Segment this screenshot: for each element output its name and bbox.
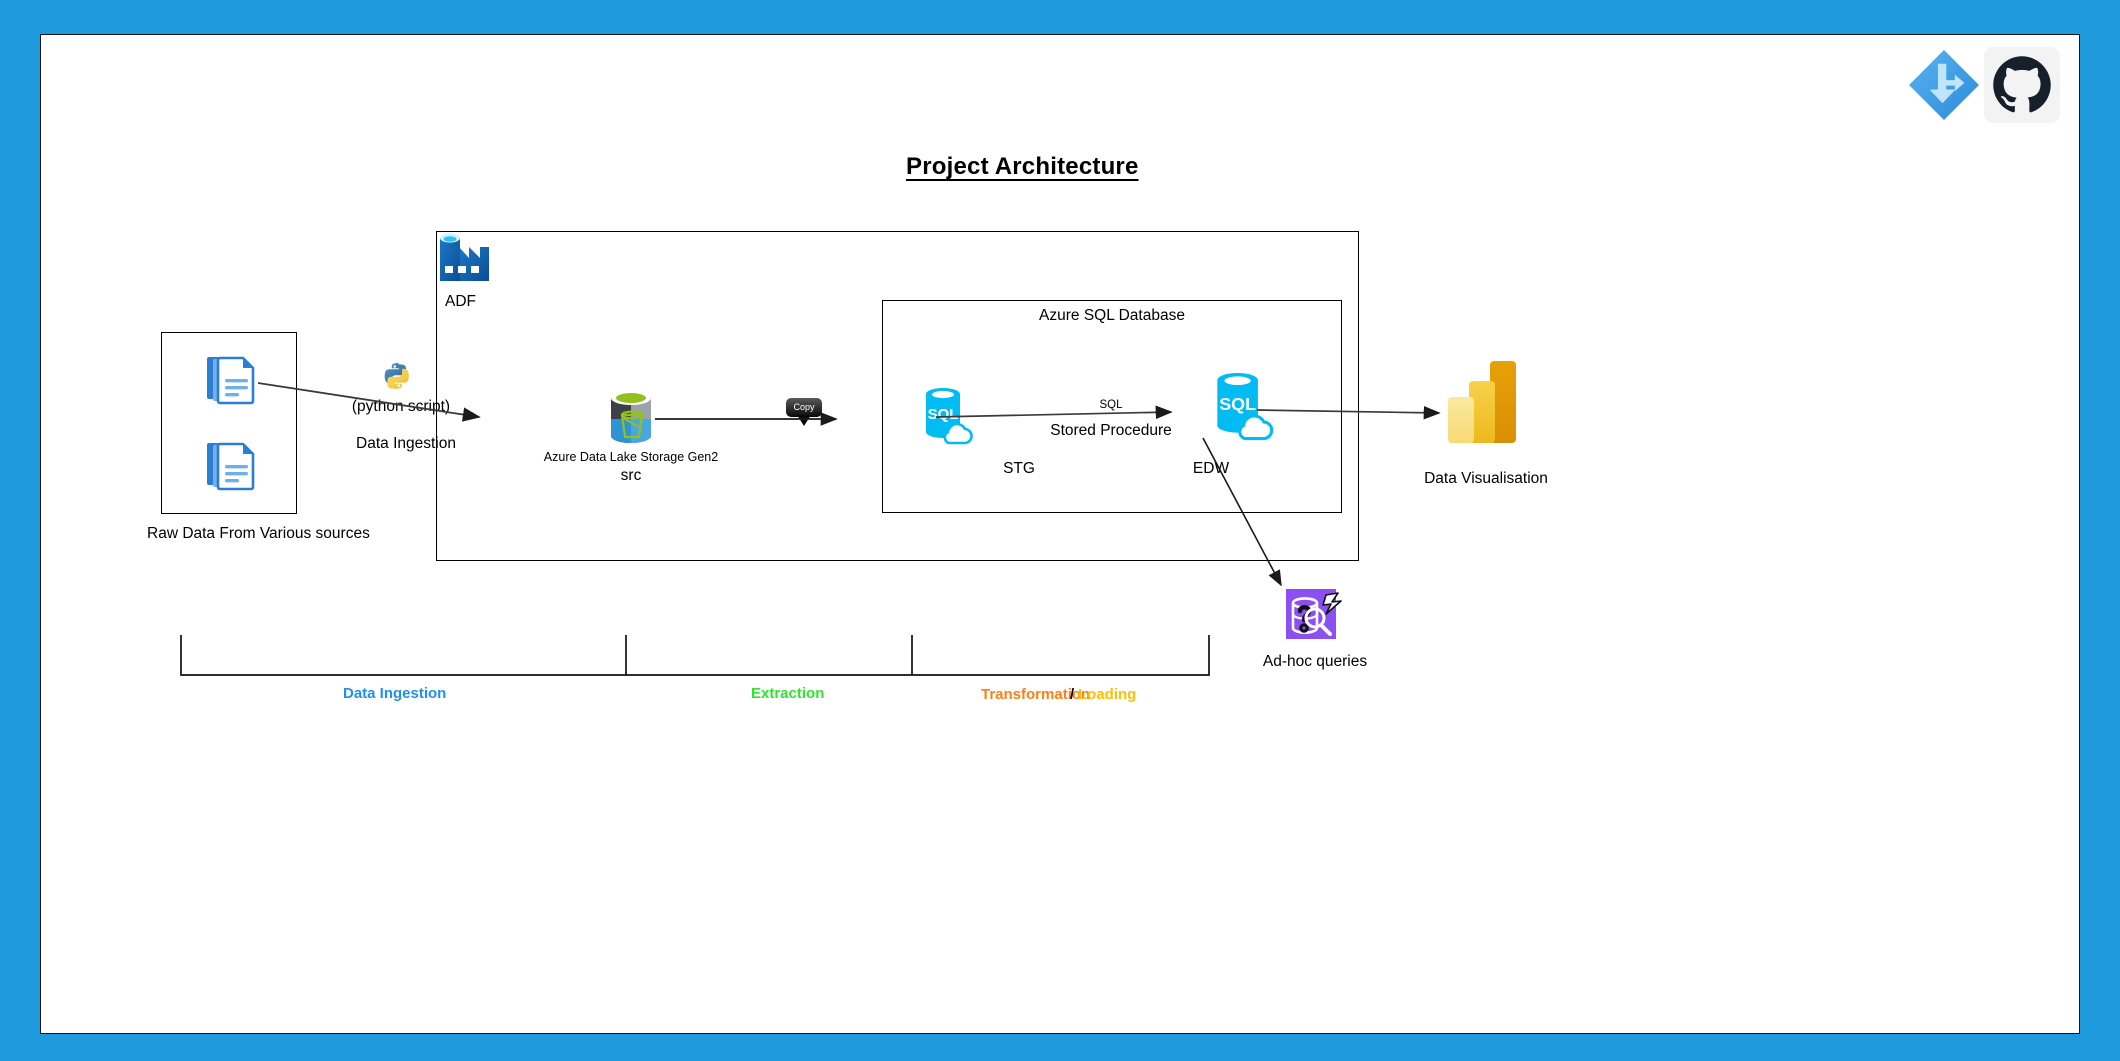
raw-data-caption: Raw Data From Various sources xyxy=(147,525,322,543)
documents-icon xyxy=(206,353,262,411)
github-logo[interactable] xyxy=(1984,47,2060,123)
copy-activity-badge[interactable]: Copy xyxy=(786,398,822,417)
copy-badge-label: Copy xyxy=(793,403,814,412)
github-octocat-icon xyxy=(1992,55,2052,115)
azure-sql-database-icon: SQL xyxy=(914,383,976,450)
svg-text:SQL: SQL xyxy=(1219,394,1256,414)
adhoc-queries-icon xyxy=(1286,585,1346,652)
adf-label: ADF xyxy=(445,293,476,311)
copy-badge-pointer xyxy=(797,415,811,426)
phase-label-loading: Loading xyxy=(1078,686,1136,703)
azure-data-factory-icon xyxy=(437,230,491,290)
data-ingestion-edge-label: Data Ingestion xyxy=(306,435,506,453)
azure-devops-icon xyxy=(1906,47,1982,123)
edw-label: EDW xyxy=(1161,460,1261,478)
adls-container-label: src xyxy=(531,467,731,485)
diagram-canvas: Project Architecture xyxy=(0,0,2120,1061)
adls-caption: Azure Data Lake Storage Gen2 xyxy=(521,450,741,464)
azure-sql-database-icon: SQL xyxy=(1203,367,1277,446)
documents-icon xyxy=(206,439,262,497)
phase-label-separator: / xyxy=(1070,686,1074,703)
python-icon xyxy=(381,360,417,401)
phase-bracket xyxy=(181,635,1209,675)
azure-devops-logo[interactable] xyxy=(1906,47,1982,123)
sql-edge-label: SQL xyxy=(1051,399,1171,411)
power-bi-caption: Data Visualisation xyxy=(1391,470,1581,488)
stored-procedure-edge-label: Stored Procedure xyxy=(1031,422,1191,440)
azure-data-lake-icon xyxy=(605,388,657,451)
power-bi-icon xyxy=(1446,361,1518,452)
page-title: Project Architecture xyxy=(906,153,1139,181)
svg-text:SQL: SQL xyxy=(928,406,959,423)
azure-sql-database-label: Azure SQL Database xyxy=(982,307,1242,325)
python-script-label: (python script) xyxy=(301,398,501,416)
phase-label-data-ingestion: Data Ingestion xyxy=(343,685,446,702)
diagram-sheet: Project Architecture xyxy=(40,34,2080,1034)
phase-label-extraction: Extraction xyxy=(751,685,824,702)
adhoc-queries-caption: Ad-hoc queries xyxy=(1249,653,1381,671)
stg-label: STG xyxy=(969,460,1069,478)
